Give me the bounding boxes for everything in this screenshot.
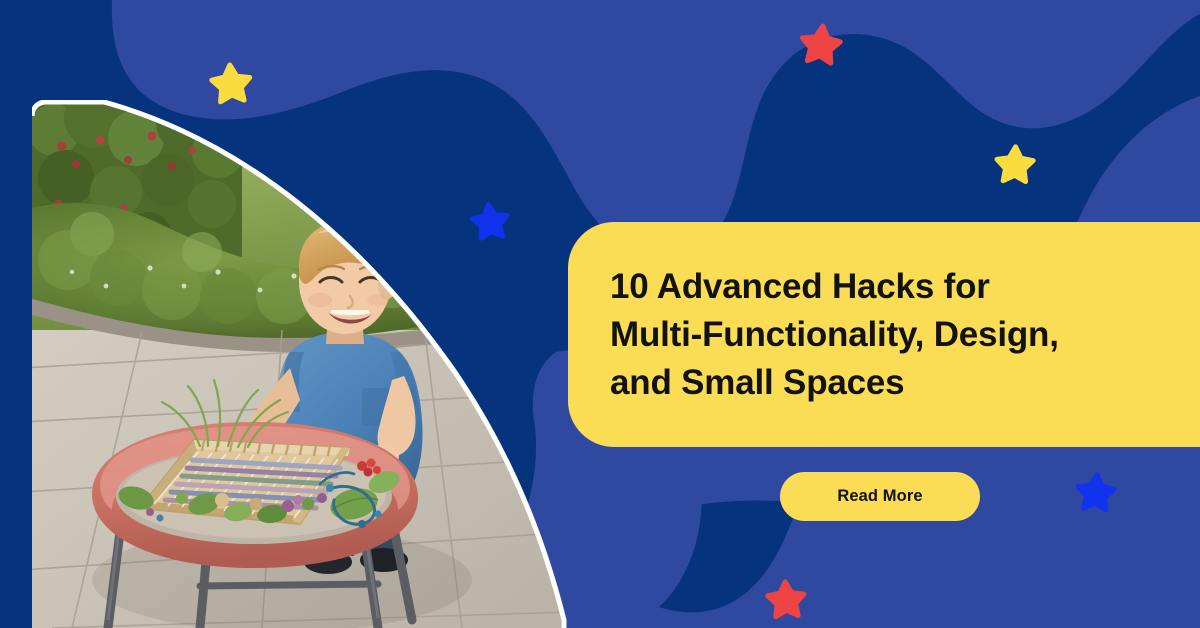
headline-title: 10 Advanced Hacks for Multi-Functionalit… xyxy=(568,263,1083,407)
star-red-bottom-icon xyxy=(762,574,810,622)
hero-photo-content xyxy=(32,100,572,628)
star-red-top-right-icon xyxy=(795,17,848,70)
star-blue-bottom-right-icon xyxy=(1071,466,1120,515)
read-more-button[interactable]: Read More xyxy=(780,472,980,521)
star-yellow-right-icon xyxy=(991,139,1039,187)
hero-photo xyxy=(32,100,572,628)
star-yellow-top-left-icon xyxy=(205,56,256,107)
promo-banner: 10 Advanced Hacks for Multi-Functionalit… xyxy=(0,0,1200,628)
headline-card: 10 Advanced Hacks for Multi-Functionalit… xyxy=(568,222,1200,447)
hero-photo-svg xyxy=(32,100,572,628)
star-blue-mid-left-icon xyxy=(466,196,514,244)
